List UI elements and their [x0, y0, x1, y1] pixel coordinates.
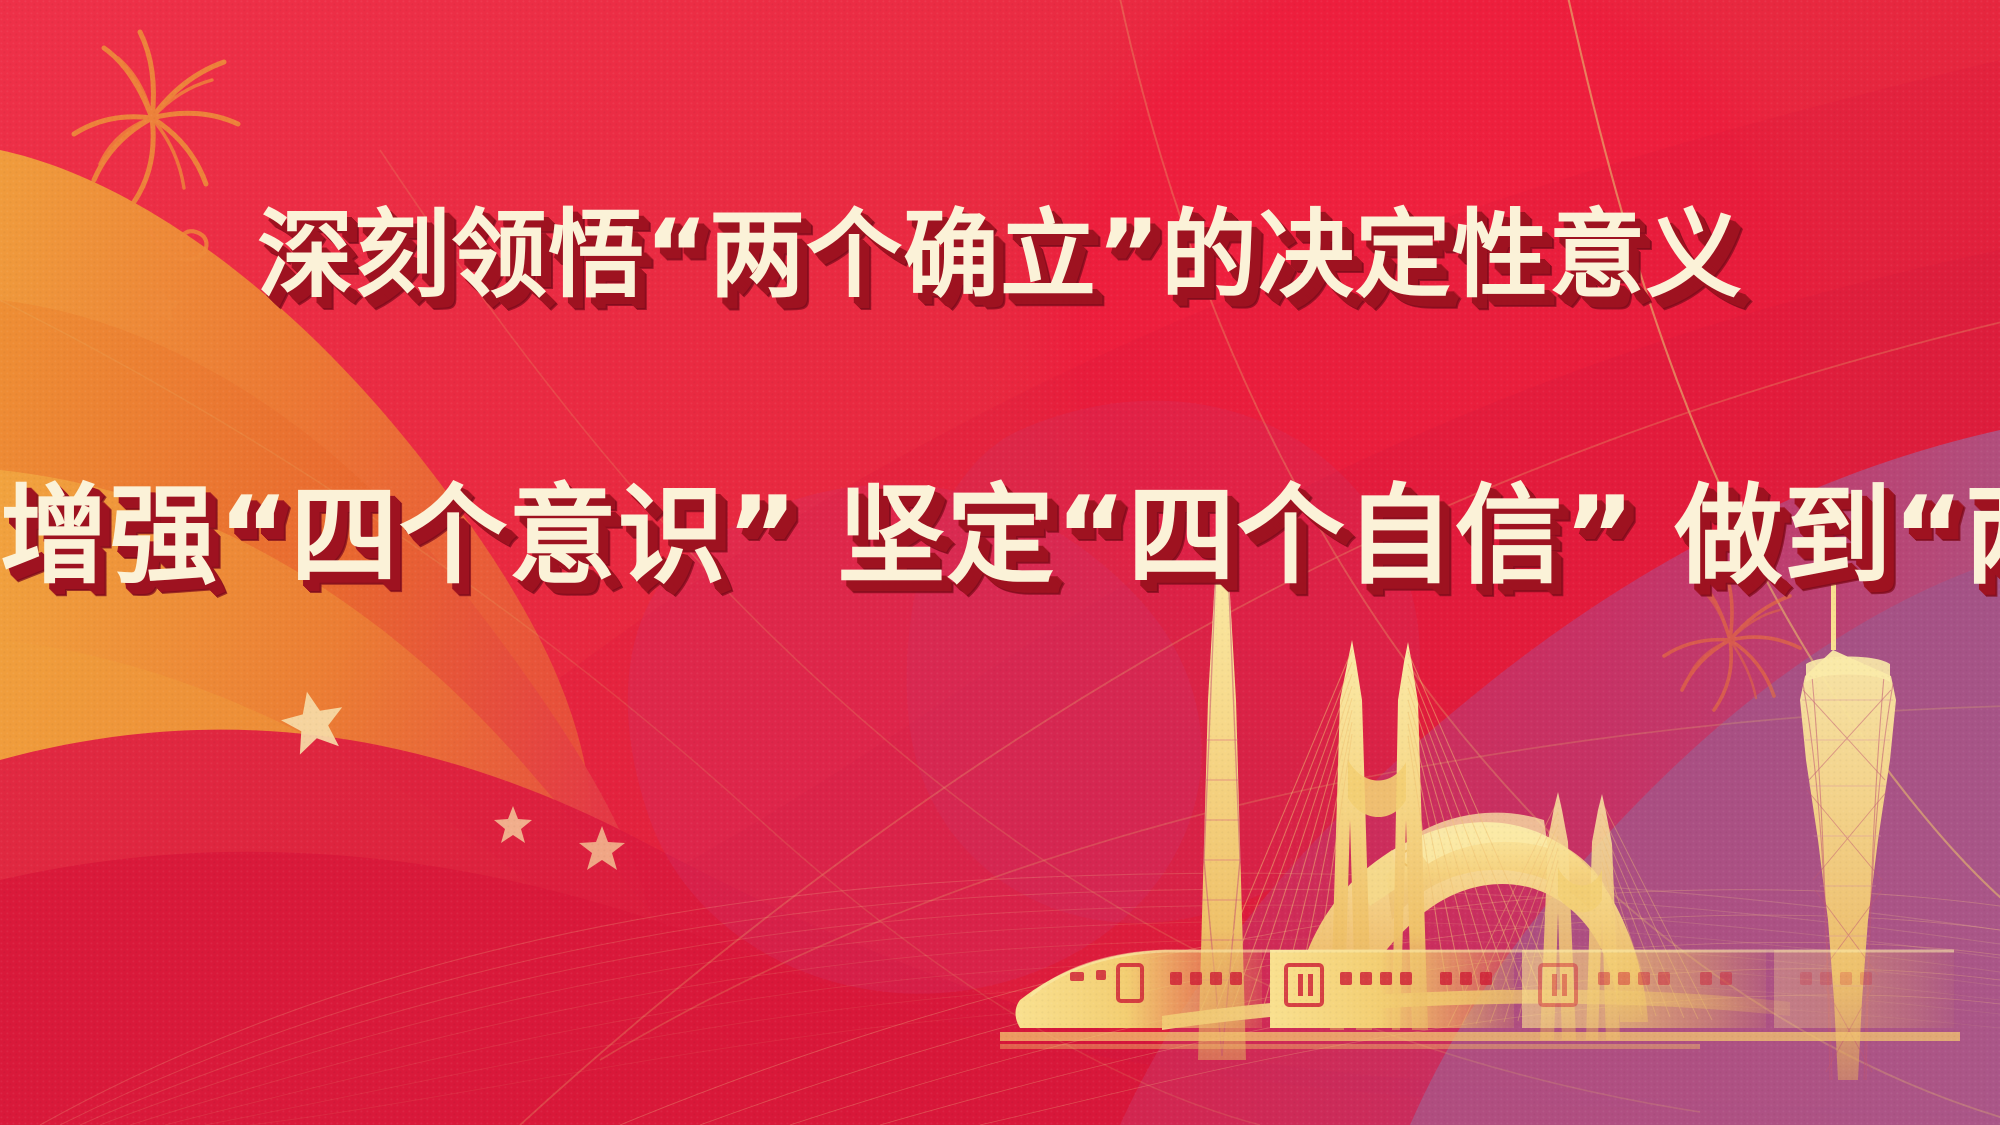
background-art [0, 0, 2000, 1125]
propaganda-poster: 深刻领悟“两个确立”的决定性意义 增强“四个意识” 坚定“四个自信” 做到“两个… [0, 0, 2000, 1125]
